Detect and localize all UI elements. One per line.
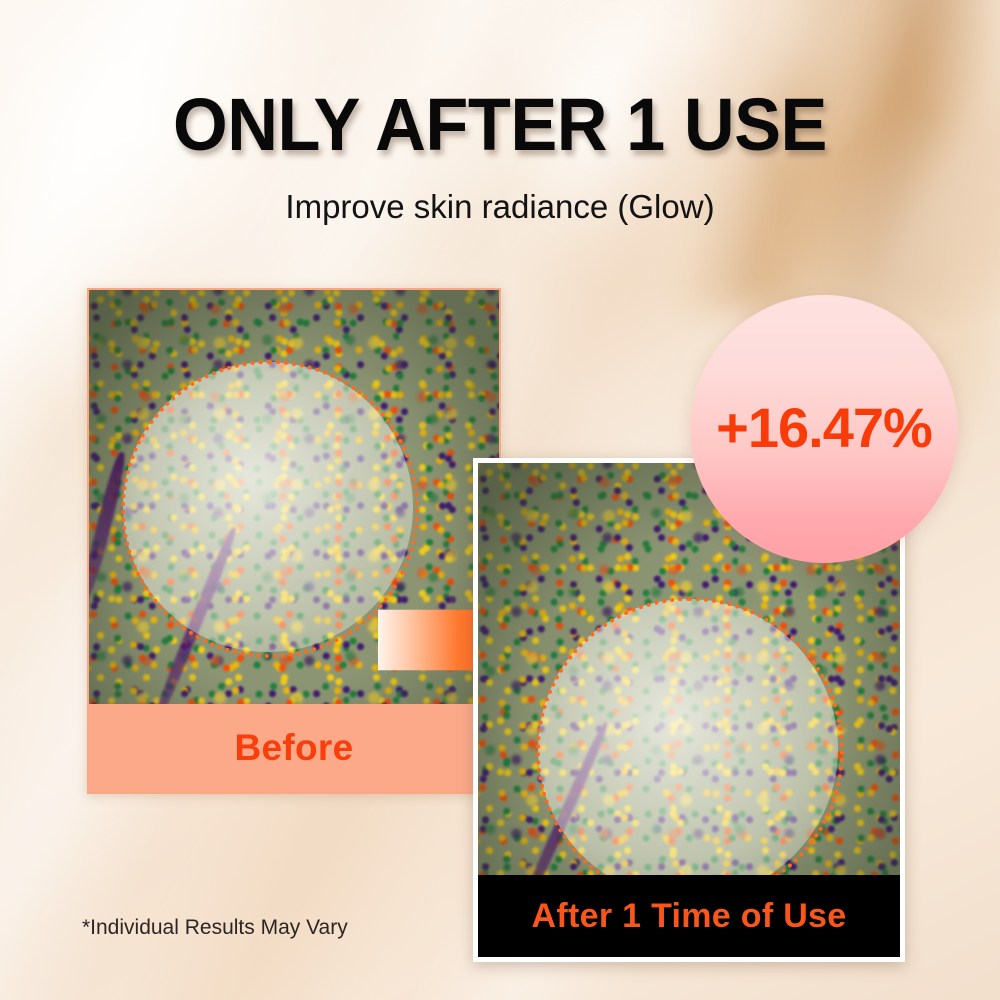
before-caption: Before bbox=[89, 704, 499, 792]
after-caption-label: After 1 Time of Use bbox=[532, 897, 847, 936]
before-measurement-circle-icon bbox=[121, 360, 419, 658]
page-subtitle: Improve skin radiance (Glow) bbox=[0, 188, 1000, 226]
before-panel: Before bbox=[87, 288, 501, 794]
before-caption-label: Before bbox=[235, 727, 354, 769]
disclaimer-text: *Individual Results May Vary bbox=[82, 916, 348, 940]
improvement-percentage: +16.47% bbox=[716, 395, 932, 460]
promo-graphic: ONLY AFTER 1 USE Improve skin radiance (… bbox=[0, 0, 1000, 1000]
improvement-badge: +16.47% bbox=[690, 295, 958, 563]
after-caption: After 1 Time of Use bbox=[478, 875, 900, 957]
page-title: ONLY AFTER 1 USE bbox=[25, 82, 975, 167]
after-measurement-circle-icon bbox=[536, 597, 844, 905]
